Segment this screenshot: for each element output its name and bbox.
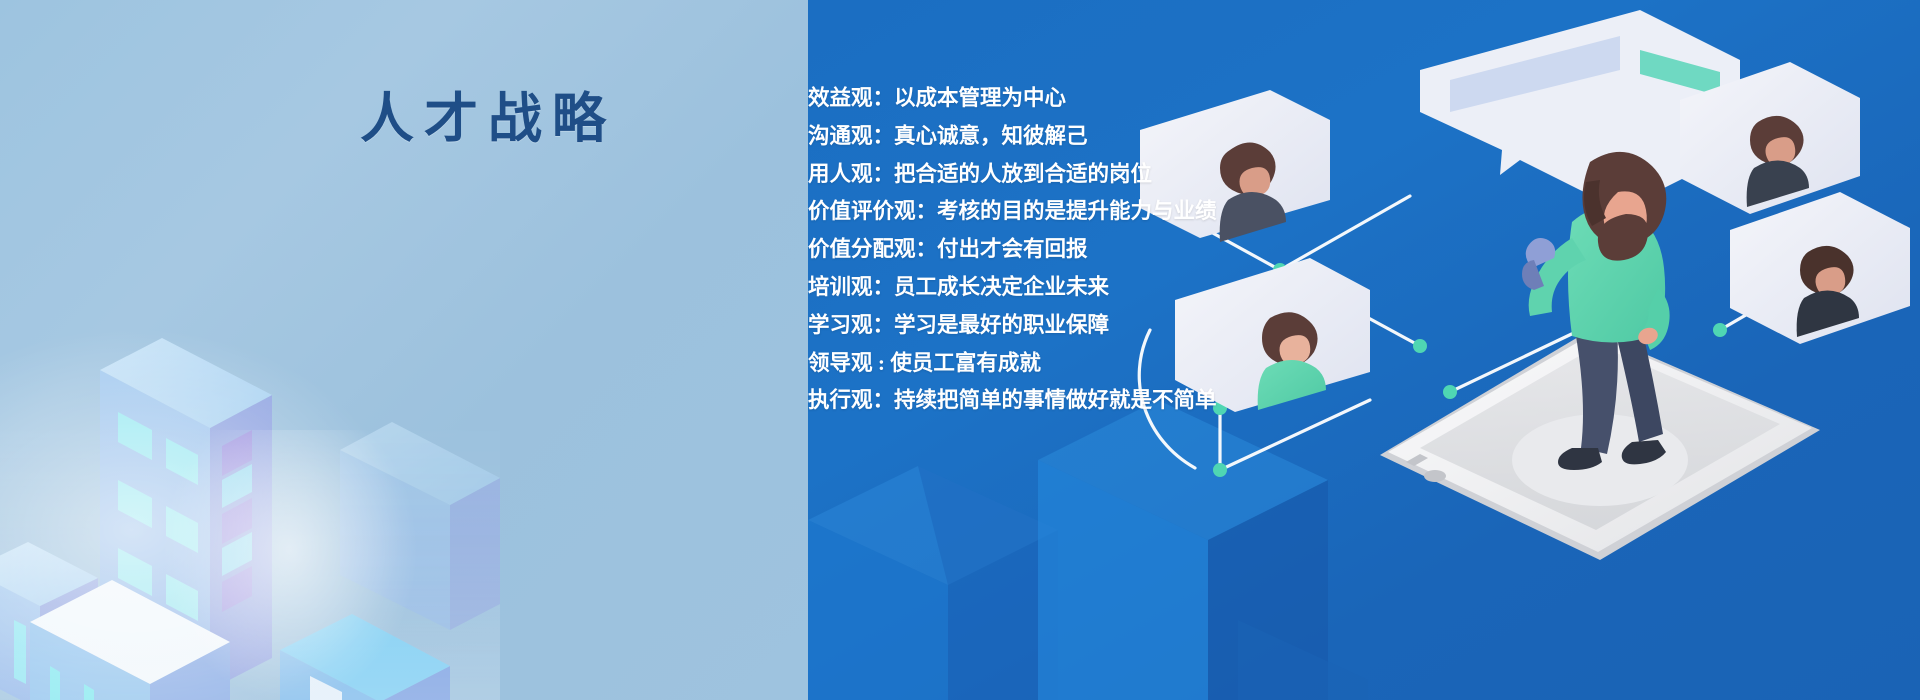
list-item: 效益观：以成本管理为中心 <box>808 80 1368 118</box>
list-item: 价值分配观：付出才会有回报 <box>808 231 1368 269</box>
list-item: 执行观：持续把简单的事情做好就是不简单 <box>808 382 1368 420</box>
list-item: 沟通观：真心诚意，知彼解己 <box>808 118 1368 156</box>
list-item: 领导观 : 使员工富有成就 <box>808 345 1368 383</box>
page-title: 人才战略 <box>360 74 620 153</box>
slide-root: 人才战略 <box>0 0 1920 700</box>
list-item: 培训观：员工成长决定企业未来 <box>808 269 1368 307</box>
list-item: 用人观：把合适的人放到合适的岗位 <box>808 156 1368 194</box>
principles-list: 效益观：以成本管理为中心 沟通观：真心诚意，知彼解己 用人观：把合适的人放到合适… <box>808 80 1368 420</box>
right-panel: 效益观：以成本管理为中心 沟通观：真心诚意，知彼解己 用人观：把合适的人放到合适… <box>808 0 1920 700</box>
list-item: 价值评价观：考核的目的是提升能力与业绩 <box>808 193 1368 231</box>
avatar-card-mid-right <box>1730 192 1910 344</box>
isometric-city-buildings <box>0 270 500 700</box>
list-item: 学习观：学习是最好的职业保障 <box>808 307 1368 345</box>
left-panel: 人才战略 <box>0 0 808 700</box>
